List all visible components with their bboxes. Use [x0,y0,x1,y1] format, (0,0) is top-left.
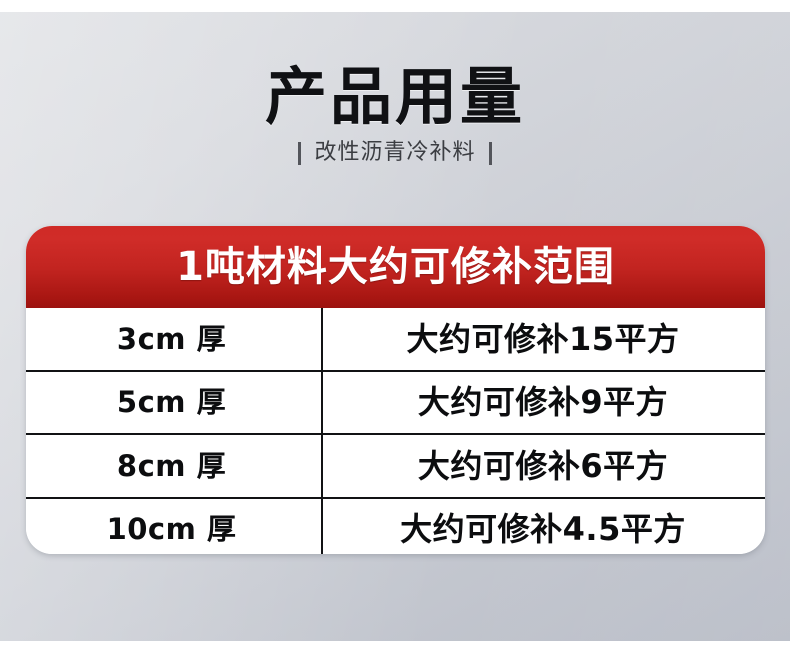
table-cell-thickness: 10cm 厚 [26,512,321,546]
coverage-table-card: 1吨材料大约可修补范围 3cm 厚 大约可修补15平方 5cm 厚 大约可修补9… [26,226,765,554]
thickness-value: 10cm 厚 [107,512,237,546]
coverage-value: 大约可修补15平方 [406,320,679,358]
thickness-value: 8cm 厚 [117,449,226,483]
subtitle-separator-left-icon [298,142,301,165]
table-row: 10cm 厚 大约可修补4.5平方 [26,499,765,555]
table-header-label: 1吨材料大约可修补范围 [176,244,615,290]
subtitle-row: 改性沥青冷补料 [0,140,790,166]
table-row: 3cm 厚 大约可修补15平方 [26,308,765,372]
table-cell-thickness: 8cm 厚 [26,449,321,483]
page-header: 产品用量 改性沥青冷补料 [0,60,790,166]
table-body: 3cm 厚 大约可修补15平方 5cm 厚 大约可修补9平方 8cm 厚 [26,308,765,554]
coverage-value: 大约可修补4.5平方 [400,510,686,548]
table-row: 8cm 厚 大约可修补6平方 [26,435,765,499]
table-cell-thickness: 3cm 厚 [26,322,321,356]
coverage-value: 大约可修补6平方 [418,447,668,485]
product-usage-infographic: 产品用量 改性沥青冷补料 1吨材料大约可修补范围 3cm 厚 大约可修补15平方 [0,0,790,651]
table-row: 5cm 厚 大约可修补9平方 [26,372,765,436]
table-header-bar: 1吨材料大约可修补范围 [26,226,765,308]
table-cell-coverage: 大约可修补9平方 [321,383,765,421]
thickness-value: 3cm 厚 [117,322,226,356]
table-cell-coverage: 大约可修补6平方 [321,447,765,485]
table-cell-thickness: 5cm 厚 [26,385,321,419]
thickness-value: 5cm 厚 [117,385,226,419]
table-cell-coverage: 大约可修补15平方 [321,320,765,358]
table-column-divider [321,308,323,554]
coverage-value: 大约可修补9平方 [418,383,668,421]
page-subtitle: 改性沥青冷补料 [314,140,475,166]
page-title: 产品用量 [0,60,790,134]
subtitle-separator-right-icon [489,142,492,165]
table-cell-coverage: 大约可修补4.5平方 [321,510,765,548]
